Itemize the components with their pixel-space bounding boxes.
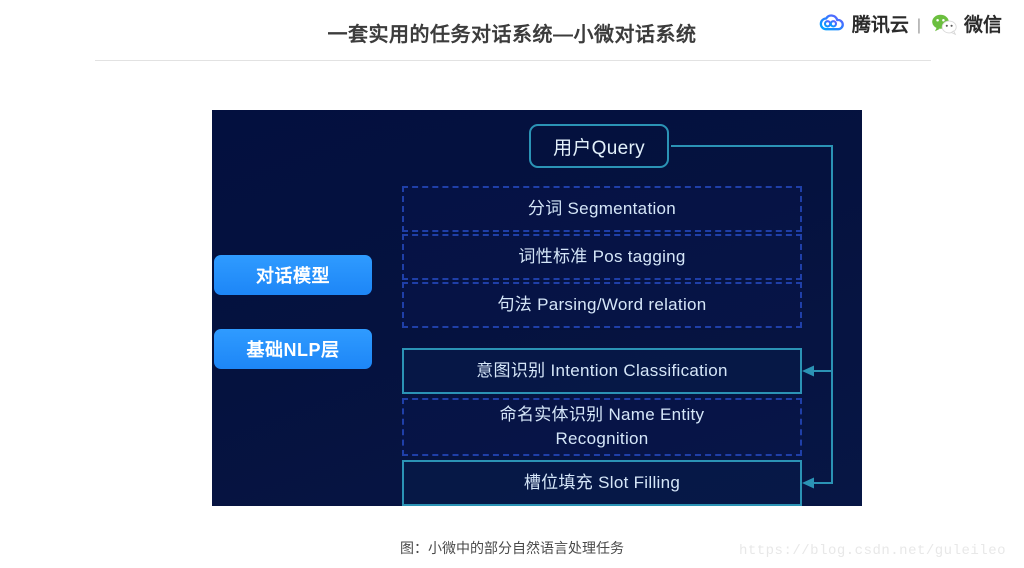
- brand-logos: 腾讯云 | 微信: [817, 11, 1002, 41]
- task-box-pos-tagging[interactable]: 词性标准 Pos tagging: [402, 234, 802, 280]
- wechat-icon: [929, 12, 959, 41]
- task-box-intention-classification[interactable]: 意图识别 Intention Classification: [402, 348, 802, 394]
- stage-pill-dialog-model[interactable]: 对话模型: [214, 255, 372, 295]
- csdn-watermark: https://blog.csdn.net/guleileo: [739, 542, 1006, 560]
- header-divider: [95, 60, 931, 61]
- wechat-label: 微信: [964, 15, 1002, 37]
- brand-separator: |: [917, 16, 921, 36]
- user-query-box[interactable]: 用户Query: [529, 124, 669, 168]
- task-box-parsing[interactable]: 句法 Parsing/Word relation: [402, 282, 802, 328]
- tencent-cloud-label: 腾讯云: [852, 15, 909, 37]
- diagram-panel: 用户Query 对话模型 基础NLP层 分词 Segmentation 词性标准…: [212, 110, 862, 506]
- page-header: 一套实用的任务对话系统—小微对话系统 腾讯云: [0, 0, 1024, 62]
- cloud-icon: [817, 12, 847, 41]
- task-box-name-entity-recognition[interactable]: 命名实体识别 Name EntityRecognition: [402, 398, 802, 456]
- stage-pill-nlp-layer[interactable]: 基础NLP层: [214, 329, 372, 369]
- task-box-segmentation[interactable]: 分词 Segmentation: [402, 186, 802, 232]
- task-box-slot-filling[interactable]: 槽位填充 Slot Filling: [402, 460, 802, 506]
- wechat-logo: 微信: [929, 12, 1002, 41]
- tencent-cloud-logo: 腾讯云: [817, 12, 909, 41]
